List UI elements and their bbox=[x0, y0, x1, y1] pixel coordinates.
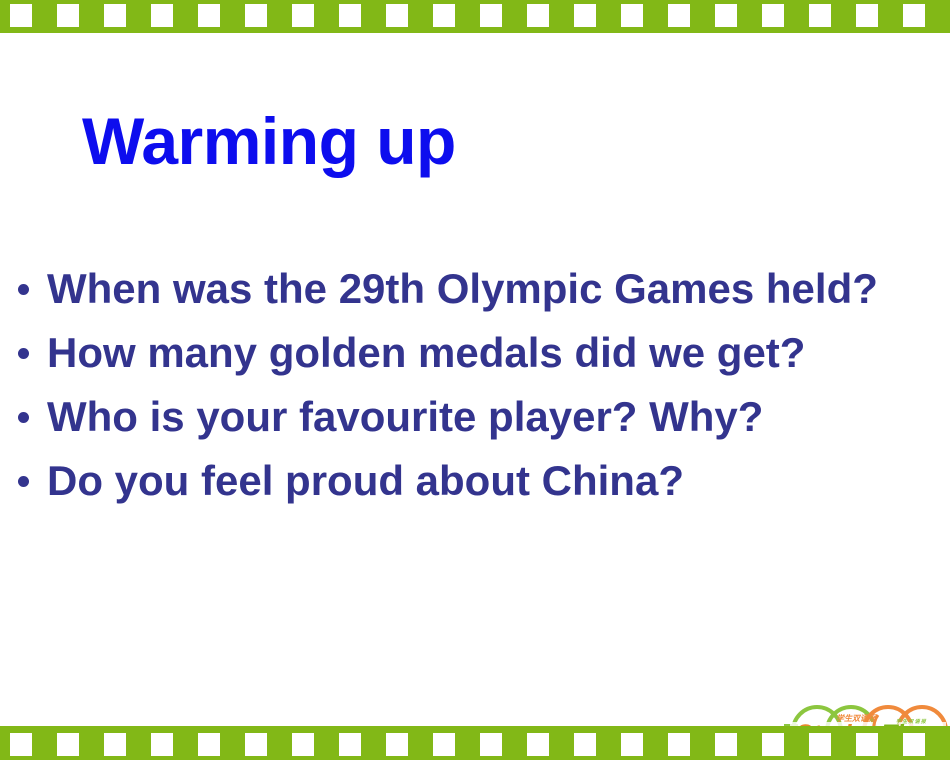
perforation-hole bbox=[104, 733, 126, 756]
page-title: Warming up bbox=[82, 108, 456, 174]
perforation-hole bbox=[292, 4, 314, 27]
bullet-marker bbox=[8, 268, 38, 295]
perforation-hole bbox=[621, 4, 643, 27]
bullet-marker bbox=[8, 460, 38, 487]
list-item: Do you feel proud about China? bbox=[0, 460, 950, 524]
perforation-hole bbox=[621, 733, 643, 756]
perforation-hole bbox=[386, 4, 408, 27]
slide-canvas: Warming up When was the 29th Olympic Gam… bbox=[0, 0, 950, 760]
bullet-marker bbox=[8, 396, 38, 423]
perforation-hole bbox=[292, 733, 314, 756]
perforation-hole bbox=[715, 733, 737, 756]
perforation-hole bbox=[668, 4, 690, 27]
perforation-hole bbox=[57, 733, 79, 756]
bullet-dot-icon bbox=[18, 476, 29, 487]
perforation-hole bbox=[809, 733, 831, 756]
perforation-hole bbox=[198, 733, 220, 756]
list-item: Who is your favourite player? Why? bbox=[0, 396, 950, 460]
perforation-row-bottom bbox=[0, 726, 950, 760]
perforation-hole bbox=[527, 733, 549, 756]
perforation-hole bbox=[245, 733, 267, 756]
perforation-hole bbox=[527, 4, 549, 27]
list-item-label: When was the 29th Olympic Games held? bbox=[47, 268, 878, 310]
list-item: When was the 29th Olympic Games held? bbox=[0, 268, 950, 332]
perforation-hole bbox=[668, 733, 690, 756]
perforation-hole bbox=[903, 733, 925, 756]
perforation-hole bbox=[480, 4, 502, 27]
perforation-hole bbox=[715, 4, 737, 27]
perforation-hole bbox=[762, 4, 784, 27]
list-item-label: Who is your favourite player? Why? bbox=[47, 396, 763, 438]
perforation-hole bbox=[151, 4, 173, 27]
perforation-hole bbox=[198, 4, 220, 27]
bullet-list: When was the 29th Olympic Games held? Ho… bbox=[0, 268, 950, 524]
list-item-label: Do you feel proud about China? bbox=[47, 460, 684, 502]
perforation-hole bbox=[574, 4, 596, 27]
film-strip-top bbox=[0, 0, 950, 33]
perforation-hole bbox=[245, 4, 267, 27]
perforation-row-top bbox=[0, 0, 950, 33]
bullet-dot-icon bbox=[18, 284, 29, 295]
perforation-hole bbox=[809, 4, 831, 27]
perforation-hole bbox=[762, 733, 784, 756]
film-strip-bottom bbox=[0, 726, 950, 760]
perforation-hole bbox=[480, 733, 502, 756]
perforation-hole bbox=[57, 4, 79, 27]
list-item-label: How many golden medals did we get? bbox=[47, 332, 805, 374]
perforation-hole bbox=[151, 733, 173, 756]
bullet-dot-icon bbox=[18, 348, 29, 359]
perforation-hole bbox=[339, 733, 361, 756]
list-item: How many golden medals did we get? bbox=[0, 332, 950, 396]
perforation-hole bbox=[433, 733, 455, 756]
perforation-hole bbox=[386, 733, 408, 756]
perforation-hole bbox=[903, 4, 925, 27]
perforation-hole bbox=[574, 733, 596, 756]
perforation-hole bbox=[339, 4, 361, 27]
perforation-hole bbox=[856, 4, 878, 27]
perforation-hole bbox=[856, 733, 878, 756]
perforation-hole bbox=[104, 4, 126, 27]
perforation-hole bbox=[10, 733, 32, 756]
perforation-hole bbox=[433, 4, 455, 27]
perforation-hole bbox=[10, 4, 32, 27]
bullet-marker bbox=[8, 332, 38, 359]
bullet-dot-icon bbox=[18, 412, 29, 423]
